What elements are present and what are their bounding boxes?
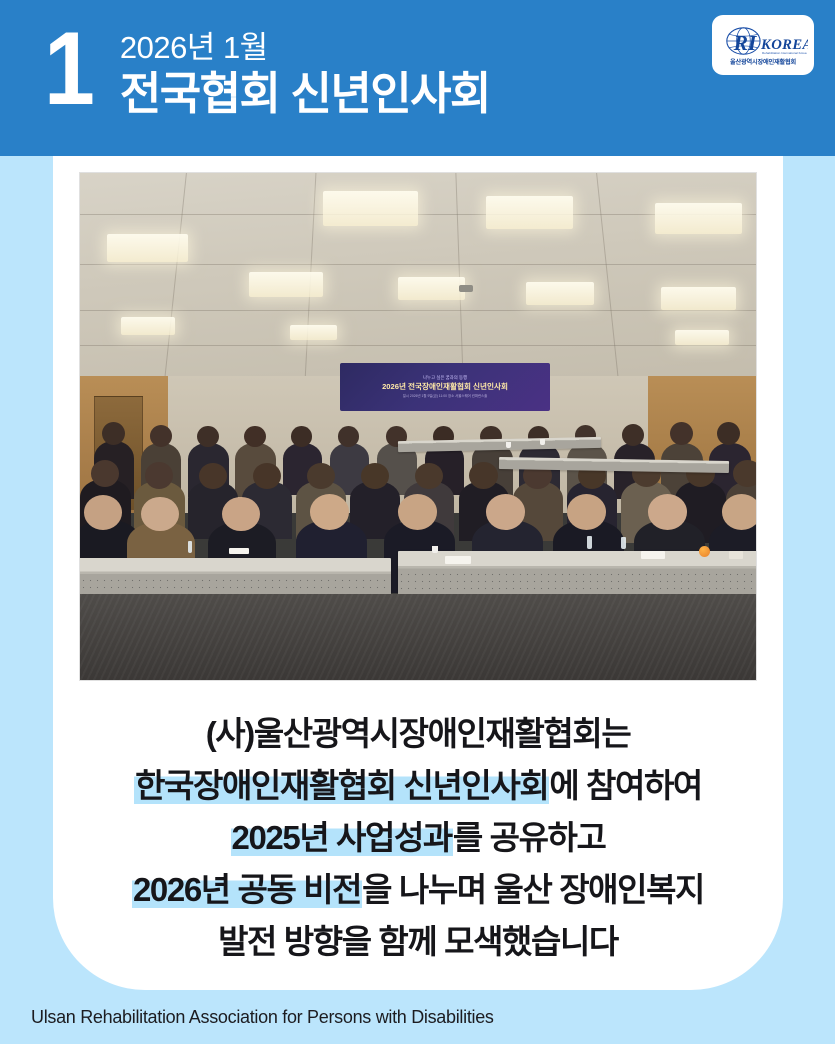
- svg-text:Rehabilitation International K: Rehabilitation International Korea: [762, 51, 807, 55]
- text-segment: (사)울산광역시장애인재활협회는: [206, 715, 631, 752]
- content-card: 나누고 싶은 꿈과의 동행 2026년 전국장애인재활협회 신년인사회 일시 2…: [53, 156, 783, 990]
- text-segment: 를 공유하고: [453, 819, 606, 856]
- footer-organization-name: Ulsan Rehabilitation Association for Per…: [31, 1007, 494, 1028]
- svg-text:RI: RI: [733, 30, 757, 54]
- logo-org-name: 울산광역시장애인재활협회: [730, 57, 796, 66]
- highlighted-text-segment: 2025년 사업성과: [231, 819, 453, 856]
- globe-icon: RI KOREA Rehabilitation International Ko…: [718, 26, 808, 58]
- highlighted-text-segment: 2026년 공동 비전: [132, 871, 362, 908]
- header-date: 2026년 1월: [120, 30, 490, 66]
- text-segment: 발전 방향을 함께 모색했습니다: [218, 923, 618, 960]
- logo-mark: RI KOREA Rehabilitation International Ko…: [712, 25, 814, 59]
- photo-canvas: 나누고 싶은 꿈과의 동행 2026년 전국장애인재활협회 신년인사회 일시 2…: [80, 173, 756, 680]
- section-number: 1: [44, 22, 93, 118]
- event-photo: 나누고 싶은 꿈과의 동행 2026년 전국장애인재활협회 신년인사회 일시 2…: [80, 173, 756, 680]
- description-line: (사)울산광역시장애인재활협회는: [53, 708, 783, 760]
- banner-sub-line: 일시 2026년 1월 9일(금) 11:00 장소 서울스퀘어 컨퍼런스홀: [403, 393, 488, 398]
- description-line: 2026년 공동 비전을 나누며 울산 장애인복지: [53, 864, 783, 916]
- description-line: 발전 방향을 함께 모색했습니다: [53, 916, 783, 968]
- highlighted-text-segment: 한국장애인재활협회 신년인사회: [134, 767, 549, 804]
- description-line: 2025년 사업성과를 공유하고: [53, 812, 783, 864]
- photo-floor: [80, 594, 756, 680]
- header-text-block: 2026년 1월 전국협회 신년인사회: [120, 22, 490, 119]
- photo-stage-banner: 나누고 싶은 꿈과의 동행 2026년 전국장애인재활협회 신년인사회 일시 2…: [340, 363, 550, 411]
- page-header: 1 2026년 1월 전국협회 신년인사회 RI KOREA: [0, 0, 835, 156]
- organization-logo: RI KOREA Rehabilitation International Ko…: [712, 15, 814, 75]
- text-segment: 에 참여하여: [549, 767, 702, 804]
- description-text: (사)울산광역시장애인재활협회는 한국장애인재활협회 신년인사회에 참여하여 2…: [53, 708, 783, 968]
- photo-projector: [459, 285, 473, 292]
- header-content: 1 2026년 1월 전국협회 신년인사회: [44, 22, 490, 119]
- description-line: 한국장애인재활협회 신년인사회에 참여하여: [53, 760, 783, 812]
- page-title: 전국협회 신년인사회: [120, 68, 490, 120]
- banner-main-line: 2026년 전국장애인재활협회 신년인사회: [382, 382, 508, 391]
- banner-top-line: 나누고 싶은 꿈과의 동행: [423, 376, 467, 381]
- text-segment: 을 나누며 울산 장애인복지: [362, 871, 704, 908]
